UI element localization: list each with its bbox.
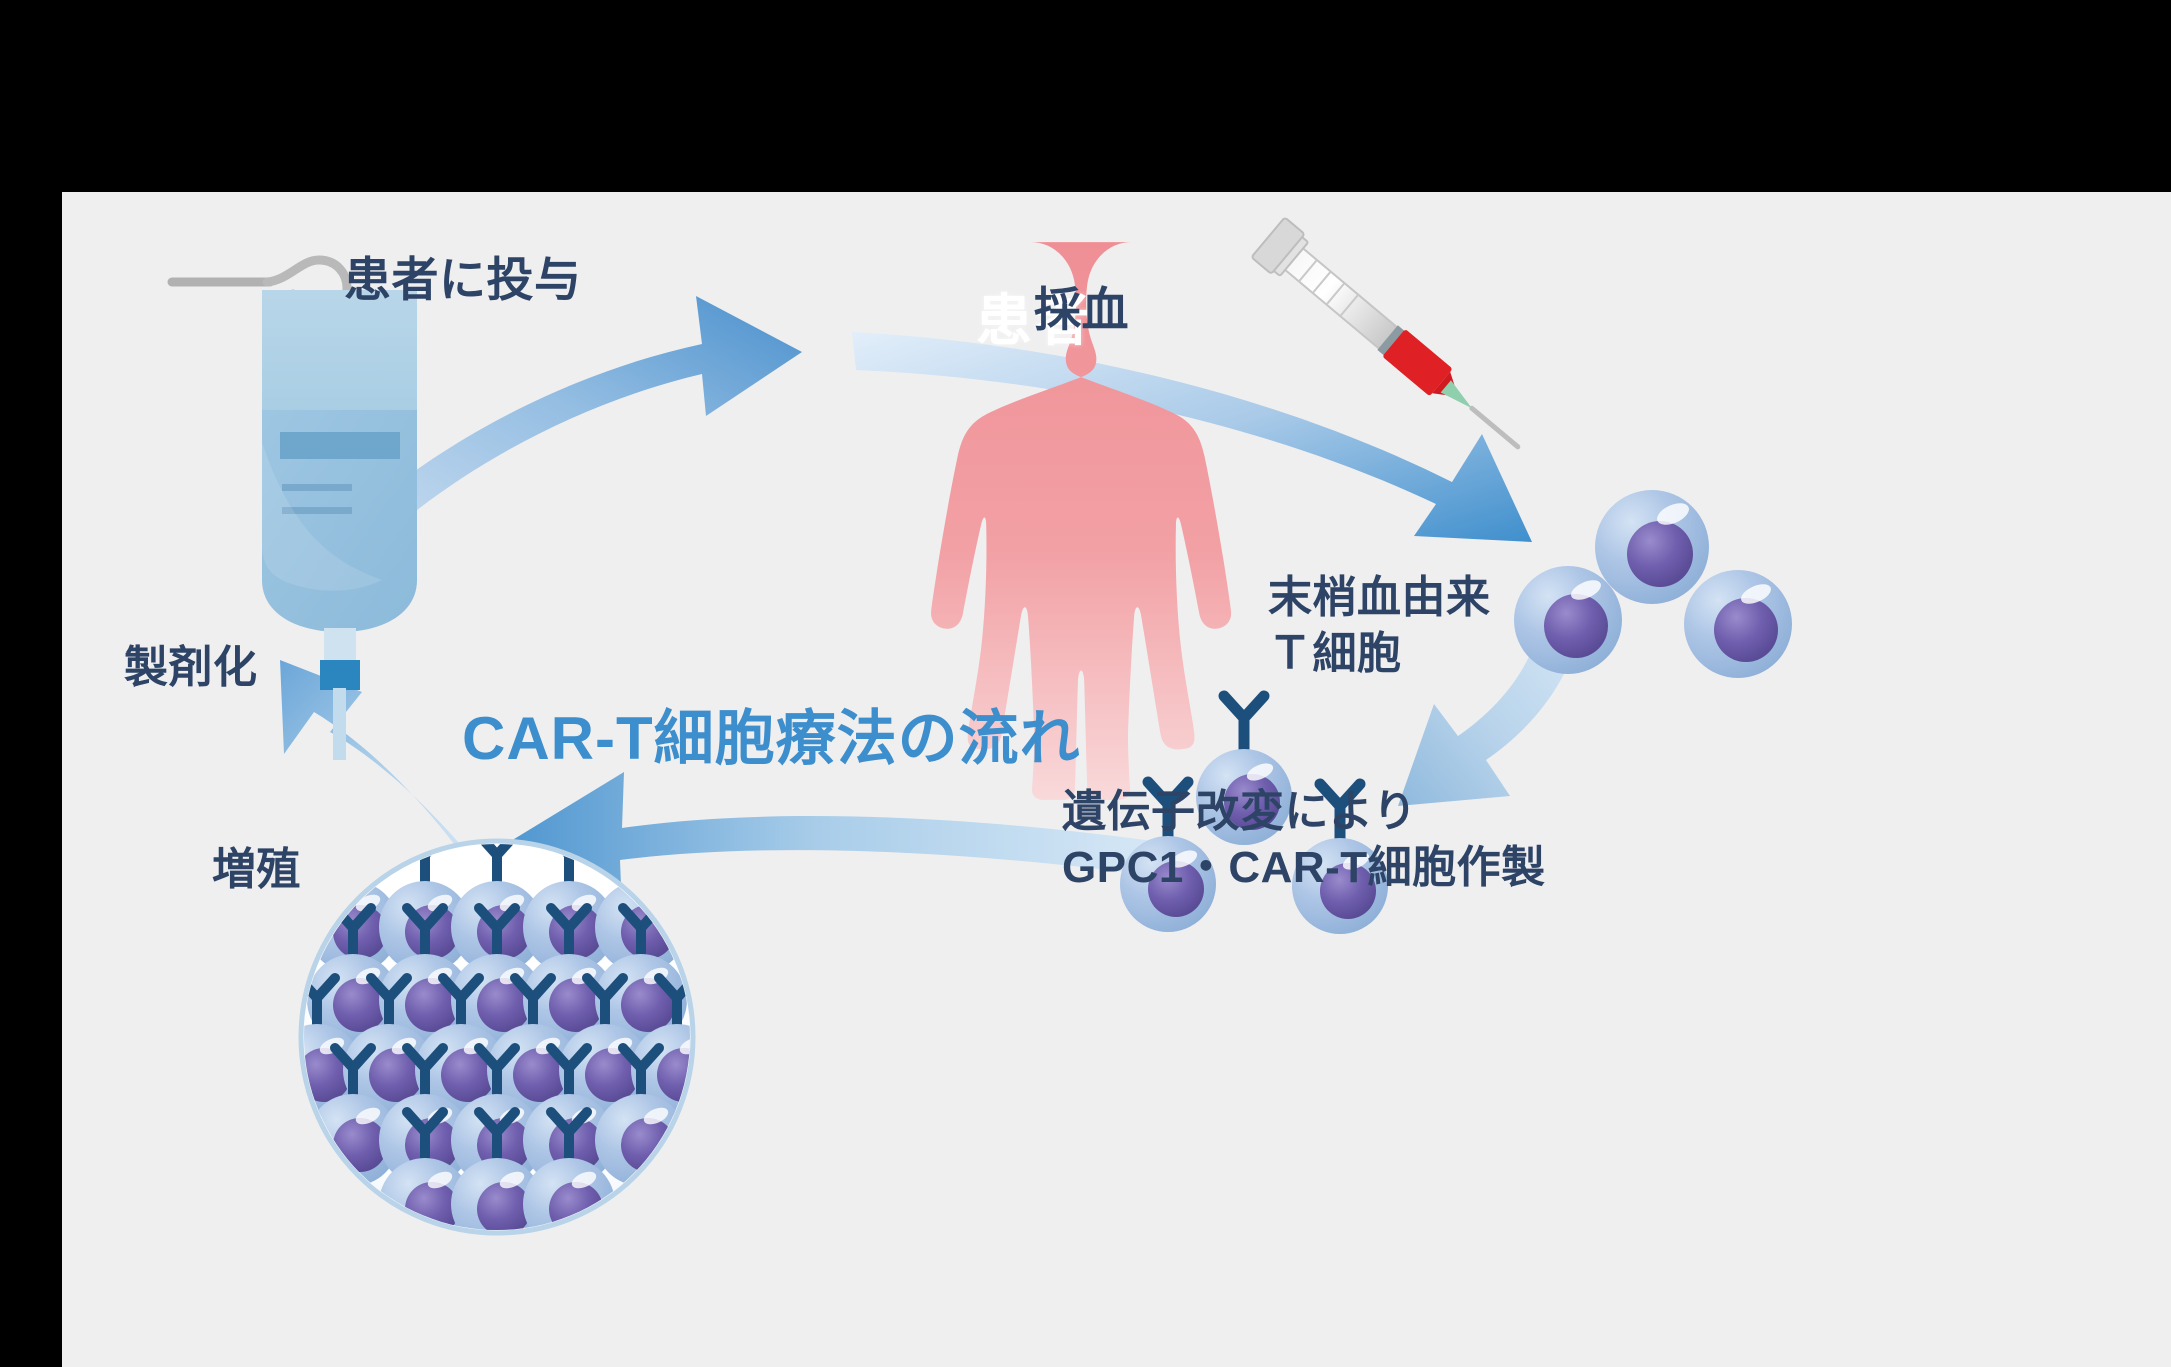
- cell-proliferation-icon: [271, 835, 723, 1250]
- label-gene-modify: 遺伝子改変により GPC1・CAR-T細胞作製: [1062, 784, 1546, 897]
- car-t-flow-diagram: 患者 CAR-T細胞療法の流れ 患者に投与 採血 末梢血由来 Ｔ細胞 遺伝子改変…: [62, 192, 2171, 1367]
- figure-letterbox: 患者 CAR-T細胞療法の流れ 患者に投与 採血 末梢血由来 Ｔ細胞 遺伝子改変…: [0, 0, 2171, 1367]
- diagram-graphics: [62, 192, 2171, 1367]
- label-t-cell: 末梢血由来 Ｔ細胞: [1268, 570, 1491, 683]
- label-blood-draw: 採血: [1034, 280, 1129, 340]
- page-title: CAR-T細胞療法の流れ: [462, 690, 1081, 777]
- t-cell-cluster-icon: [1514, 490, 1792, 678]
- label-administer: 患者に投与: [344, 250, 582, 310]
- label-proliferation: 増殖: [212, 842, 301, 898]
- label-formulation: 製剤化: [124, 640, 258, 696]
